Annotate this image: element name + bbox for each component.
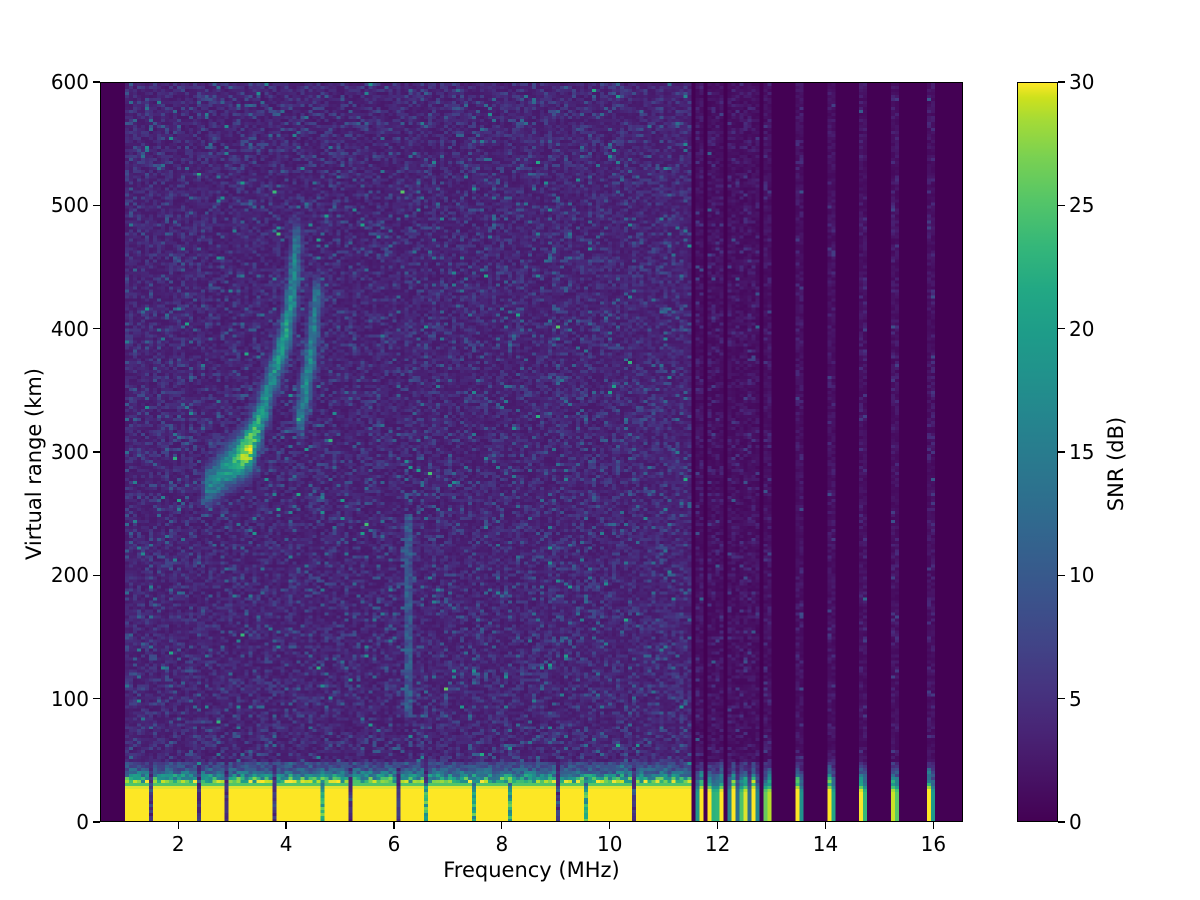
- colorbar-tick-label: 5: [1069, 687, 1082, 711]
- colorbar-tick-mark: [1058, 698, 1065, 699]
- x-tick-label: 14: [813, 832, 838, 856]
- colorbar-tick-label: 25: [1069, 193, 1094, 217]
- x-axis-label: Frequency (MHz): [100, 858, 963, 882]
- y-axis-label: Virtual range (km): [22, 264, 46, 664]
- colorbar-tick-mark: [1058, 821, 1065, 822]
- colorbar-tick-label: 20: [1069, 317, 1094, 341]
- x-tick-mark: [178, 822, 179, 829]
- x-tick-mark: [501, 822, 502, 829]
- colorbar-tick-label: 30: [1069, 70, 1094, 94]
- colorbar-tick-mark: [1058, 205, 1065, 206]
- y-tick-label: 600: [51, 70, 89, 94]
- y-tick-mark: [93, 205, 100, 206]
- colorbar-tick-mark: [1058, 575, 1065, 576]
- x-tick-mark: [285, 822, 286, 829]
- y-tick-mark: [93, 698, 100, 699]
- colorbar-tick-label: 0: [1069, 810, 1082, 834]
- x-tick-mark: [825, 822, 826, 829]
- x-tick-label: 6: [388, 832, 401, 856]
- colorbar-tick-mark: [1058, 451, 1065, 452]
- ionogram-heatmap[interactable]: [101, 83, 962, 821]
- x-tick-label: 16: [921, 832, 946, 856]
- colorbar-tick-label: 15: [1069, 440, 1094, 464]
- y-tick-mark: [93, 575, 100, 576]
- y-tick-label: 400: [51, 317, 89, 341]
- x-tick-mark: [609, 822, 610, 829]
- x-tick-label: 10: [597, 832, 622, 856]
- x-tick-label: 4: [280, 832, 293, 856]
- colorbar[interactable]: [1017, 82, 1058, 822]
- y-tick-label: 100: [51, 687, 89, 711]
- ionogram-figure: IRF Kiruna Ionosonde KI167 2026-02-11 06…: [0, 0, 1200, 900]
- colorbar-tick-mark: [1058, 81, 1065, 82]
- colorbar-gradient: [1017, 82, 1058, 822]
- y-tick-mark: [93, 451, 100, 452]
- y-tick-label: 300: [51, 440, 89, 464]
- x-tick-mark: [393, 822, 394, 829]
- y-tick-label: 0: [76, 810, 89, 834]
- x-tick-mark: [933, 822, 934, 829]
- colorbar-tick-label: 10: [1069, 563, 1094, 587]
- y-tick-mark: [93, 328, 100, 329]
- x-tick-mark: [717, 822, 718, 829]
- y-tick-label: 500: [51, 193, 89, 217]
- y-tick-label: 200: [51, 563, 89, 587]
- y-tick-mark: [93, 81, 100, 82]
- x-tick-label: 8: [495, 832, 508, 856]
- x-tick-label: 12: [705, 832, 730, 856]
- ionogram-axes[interactable]: [100, 82, 963, 822]
- colorbar-tick-mark: [1058, 328, 1065, 329]
- y-tick-mark: [93, 821, 100, 822]
- colorbar-label: SNR (dB): [1104, 264, 1128, 664]
- x-tick-label: 2: [172, 832, 185, 856]
